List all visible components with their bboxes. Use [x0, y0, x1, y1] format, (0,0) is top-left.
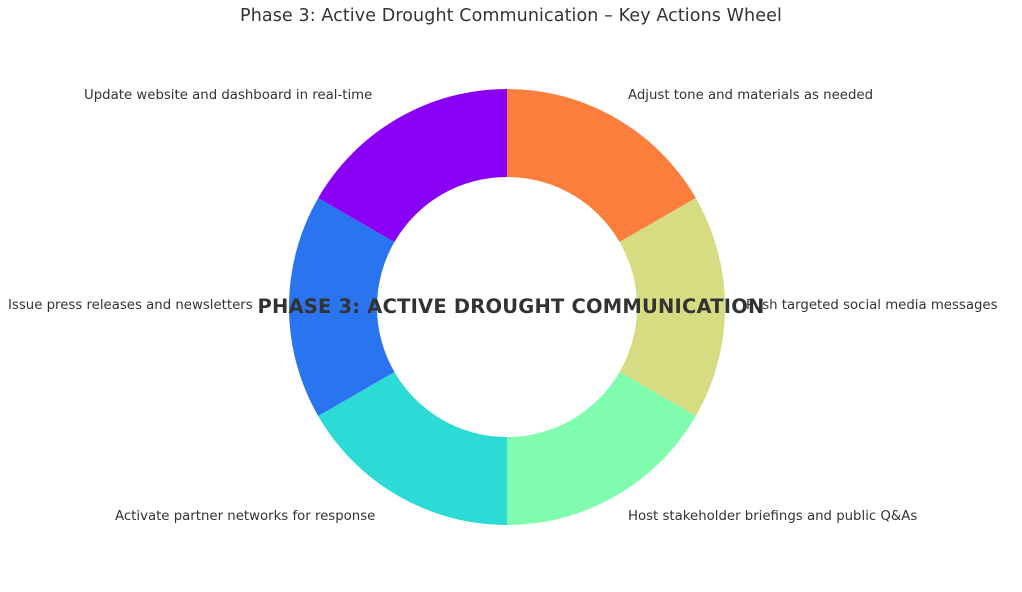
donut-slices-group [289, 89, 725, 525]
slice-label: Update website and dashboard in real-tim… [84, 89, 372, 104]
slice-label: Adjust tone and materials as needed [628, 89, 873, 104]
slice-label: Activate partner networks for response [115, 510, 375, 525]
slice-label: Push targeted social media messages [746, 299, 998, 314]
slice-label: Host stakeholder briefings and public Q&… [628, 510, 917, 525]
slice-label: Issue press releases and newsletters [8, 299, 253, 314]
chart-figure: Phase 3: Active Drought Communication – … [0, 0, 1022, 592]
